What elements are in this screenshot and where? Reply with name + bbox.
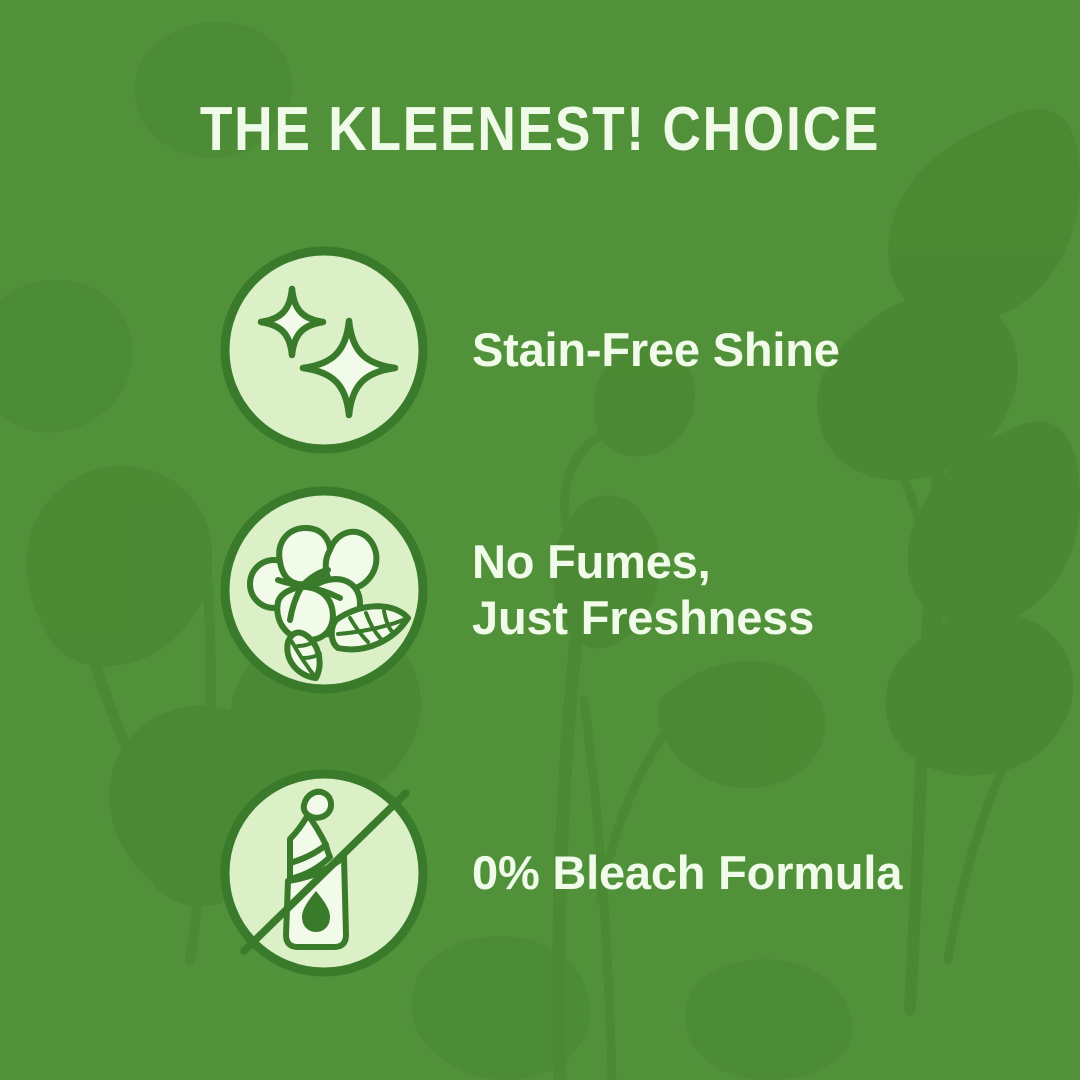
feature-row-no-bleach: 0% Bleach Formula	[0, 767, 1080, 979]
poster-canvas: THE KLEENEST! CHOICE Stain-Free Shine	[0, 0, 1080, 1080]
badge-no-fumes	[218, 484, 430, 696]
feature-label-stain-free-shine: Stain-Free Shine	[472, 322, 840, 378]
feature-row-no-fumes: No Fumes, Just Freshness	[0, 484, 1080, 696]
badge-no-bleach	[218, 767, 430, 979]
page-title: THE KLEENEST! CHOICE	[76, 97, 1005, 163]
badge-circle	[225, 251, 423, 449]
feature-label-no-fumes: No Fumes, Just Freshness	[472, 534, 814, 646]
feature-label-no-bleach: 0% Bleach Formula	[472, 845, 902, 901]
feature-row-stain-free-shine: Stain-Free Shine	[0, 244, 1080, 456]
badge-stain-free-shine	[218, 244, 430, 456]
